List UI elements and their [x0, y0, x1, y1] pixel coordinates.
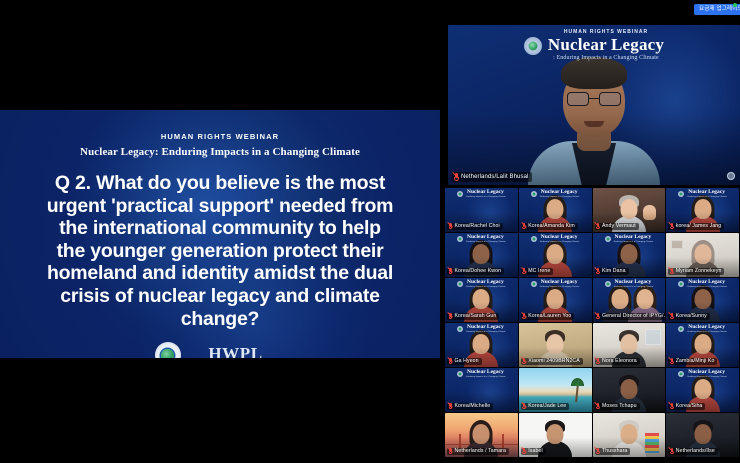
participant-name-label: Korea/Siha	[676, 403, 703, 409]
shared-screen-slide: HUMAN RIGHTS WEBINAR Nuclear Legacy: End…	[0, 110, 440, 358]
participant-name-tag: MC Irene	[521, 268, 554, 276]
participant-tile[interactable]: Nuclear Legacy : Enduring Impacts in a C…	[445, 233, 518, 277]
participant-name-tag: General Director of IPYG/...	[595, 313, 666, 321]
hwpl-emblem-icon	[531, 281, 537, 287]
participant-tile[interactable]: Nuclear Legacy : Enduring Impacts in a C…	[445, 278, 518, 322]
hwpl-emblem-icon	[457, 371, 463, 377]
glasses-icon	[567, 92, 621, 107]
participant-name-tag: Andy Vermaut	[595, 223, 639, 231]
participant-tile[interactable]: Nuclear Legacy : Enduring Impacts in a C…	[519, 188, 592, 232]
mic-muted-icon	[449, 403, 453, 410]
participant-tile[interactable]: Nora Eleonora	[593, 323, 666, 367]
participant-name-label: Ga Hyeon	[455, 358, 479, 364]
participant-name-tag: Zambia/Minji Ko	[668, 358, 717, 366]
hwpl-emblem-icon	[605, 236, 611, 242]
participant-name-label: Korea/Rachel Choi	[455, 223, 500, 229]
participant-tile[interactable]: Nuclear Legacy : Enduring Impacts in a C…	[445, 323, 518, 367]
participant-name-label: Netherlands / Tamara	[455, 448, 507, 454]
participant-name-label: Korea/Amanda Kim	[528, 223, 575, 229]
participant-name-label: Korea/Dohee Kwon	[455, 268, 502, 274]
participant-name-label: Myriam Zonnekeyn	[676, 268, 722, 274]
participant-tile[interactable]: Nuclear Legacy : Enduring Impacts in a C…	[666, 188, 739, 232]
mic-muted-icon	[596, 358, 600, 365]
active-speaker-tile[interactable]: HUMAN RIGHTS WEBINAR Nuclear Legacy : En…	[448, 25, 740, 185]
hwpl-emblem-icon	[531, 236, 537, 242]
mic-muted-icon	[454, 173, 459, 181]
participant-name-label: Nora Eleonora	[602, 358, 637, 364]
participant-tile[interactable]: Nuclear Legacy : Enduring Impacts in a C…	[593, 278, 666, 322]
video-conference-window: 요금제 업그레이드 HUMAN RIGHTS WEBINAR Nuclear L…	[0, 0, 740, 463]
participant-name-label: Korea/Sarah Gun	[455, 313, 497, 319]
mic-muted-icon	[449, 313, 453, 320]
mic-muted-icon	[670, 313, 674, 320]
participant-name-label: Isabel	[528, 448, 542, 454]
mic-muted-icon	[449, 268, 453, 275]
participant-name-tag: Isabel	[521, 448, 546, 456]
hwpl-logo-text: HWPL	[186, 345, 286, 358]
participant-tile[interactable]: Nuclear Legacy : Enduring Impacts in a C…	[593, 233, 666, 277]
hwpl-logo: HWPL HEAVENLY CULTURE, WORLD PEACE, REST…	[0, 342, 440, 358]
participant-name-tag: Ga Hyeon	[447, 358, 482, 366]
mic-muted-icon	[670, 268, 674, 275]
participant-tile[interactable]: Netherlands/Ilse	[666, 413, 739, 457]
participant-name-label: korea/ James Jang	[676, 223, 722, 229]
mic-muted-icon	[670, 358, 674, 365]
hwpl-emblem-icon	[457, 236, 463, 242]
hwpl-emblem-icon	[605, 281, 611, 287]
pin-badge-icon[interactable]	[727, 172, 735, 180]
mic-muted-icon	[596, 448, 600, 455]
participant-name-label: Korea/Sunny	[676, 313, 707, 319]
participant-tile[interactable]: Netherlands / Tamara	[445, 413, 518, 457]
hwpl-emblem-icon	[524, 37, 542, 55]
recording-status-dot	[733, 3, 737, 7]
participant-tile[interactable]: Nuclear Legacy : Enduring Impacts in a C…	[666, 323, 739, 367]
mic-muted-icon	[522, 448, 526, 455]
mic-muted-icon	[449, 358, 453, 365]
participant-tile[interactable]: Isabel	[519, 413, 592, 457]
hwpl-emblem-icon	[457, 326, 463, 332]
participant-tile[interactable]: Nuclear Legacy : Enduring Impacts in a C…	[666, 278, 739, 322]
participant-name-label: Kim Dana	[602, 268, 626, 274]
participant-name-tag: Thusshara	[595, 448, 631, 456]
mic-muted-icon	[596, 223, 600, 230]
participant-name-tag: korea/ James Jang	[668, 223, 724, 231]
participant-tile[interactable]: Nuclear Legacy : Enduring Impacts in a C…	[519, 278, 592, 322]
participant-name-tag: Moses Tchapu	[595, 403, 640, 411]
mic-muted-icon	[596, 313, 600, 320]
hwpl-emblem-icon	[531, 191, 537, 197]
participant-name-label: Netherlands/Ilse	[676, 448, 715, 454]
hwpl-emblem-icon	[678, 281, 684, 287]
participant-name-label: MC Irene	[528, 268, 550, 274]
slide-subtitle: Nuclear Legacy: Enduring Impacts in a Ch…	[0, 146, 440, 158]
participant-name-label: Xiaomi 2409BRN2CA	[528, 358, 580, 364]
participant-name-tag: Netherlands / Tamara	[447, 448, 509, 456]
hwpl-emblem-icon	[678, 326, 684, 332]
speaker-brand-subtitle: : Enduring Impacts in a Changing Climate	[548, 55, 664, 61]
mic-muted-icon	[522, 313, 526, 320]
participant-tile[interactable]: Nuclear Legacy : Enduring Impacts in a C…	[666, 368, 739, 412]
participant-name-tag: Korea/Lauren Yoo	[521, 313, 575, 321]
participant-name-label: Korea/Lauren Yoo	[528, 313, 571, 319]
mic-muted-icon	[522, 268, 526, 275]
participant-tile[interactable]: Xiaomi 2409BRN2CA	[519, 323, 592, 367]
waving-hand	[643, 205, 656, 220]
participant-name-label: Andy Vermaut	[602, 223, 636, 229]
mic-muted-icon	[670, 448, 674, 455]
mic-muted-icon	[449, 448, 453, 455]
speaker-video-image	[528, 73, 660, 185]
speaker-name-tag: Netherlands/Lalit Bhusal	[452, 172, 532, 182]
mic-muted-icon	[670, 223, 674, 230]
hwpl-emblem-icon	[678, 191, 684, 197]
participant-name-label: Zambia/Minji Ko	[676, 358, 715, 364]
mic-muted-icon	[670, 403, 674, 410]
mic-muted-icon	[449, 223, 453, 230]
participant-name-tag: Korea/Sarah Gun	[447, 313, 499, 321]
participant-name-tag: Netherlands/Ilse	[668, 448, 718, 456]
slide-question-text: Q 2. What do you believe is the most urg…	[45, 172, 395, 330]
mic-muted-icon	[596, 403, 600, 410]
hwpl-emblem-icon	[678, 371, 684, 377]
slide-kicker: HUMAN RIGHTS WEBINAR	[0, 132, 440, 141]
video-panel: HUMAN RIGHTS WEBINAR Nuclear Legacy : En…	[444, 20, 740, 463]
hwpl-emblem-icon	[457, 281, 463, 287]
participant-tile[interactable]: Myriam Zonnekeyn	[666, 233, 739, 277]
participant-tile[interactable]: Nuclear Legacy : Enduring Impacts in a C…	[445, 188, 518, 232]
participant-name-tag: Nora Eleonora	[595, 358, 640, 366]
participant-name-tag: Korea/Michelle	[447, 403, 493, 411]
participant-name-tag: Korea/Siha	[668, 403, 705, 411]
participant-name-tag: Kim Dana	[595, 268, 629, 276]
participant-name-label: Korea/Michelle	[455, 403, 491, 409]
participant-name-label: Moses Tchapu	[602, 403, 637, 409]
participant-tile[interactable]: Andy Vermaut	[593, 188, 666, 232]
participant-name-tag: Korea/Jade Lee	[521, 403, 570, 411]
speaker-brand-title: Nuclear Legacy	[548, 36, 664, 53]
mic-muted-icon	[522, 403, 526, 410]
participant-name-tag: Xiaomi 2409BRN2CA	[521, 358, 583, 366]
participant-name-label: General Director of IPYG/...	[602, 313, 665, 319]
participant-grid: Nuclear Legacy : Enduring Impacts in a C…	[444, 188, 740, 463]
participant-name-label: Thusshara	[602, 448, 627, 454]
participant-name-tag: Korea/Dohee Kwon	[447, 268, 504, 276]
participant-name-tag: Korea/Rachel Choi	[447, 223, 503, 231]
participant-tile[interactable]: Nuclear Legacy : Enduring Impacts in a C…	[445, 368, 518, 412]
participant-name-tag: Korea/Amanda Kim	[521, 223, 578, 231]
participant-tile[interactable]: Korea/Jade Lee	[519, 368, 592, 412]
participant-tile[interactable]: Moses Tchapu	[593, 368, 666, 412]
held-object	[645, 433, 659, 453]
participant-name-tag: Myriam Zonnekeyn	[668, 268, 724, 276]
participant-name-tag: Korea/Sunny	[668, 313, 710, 321]
top-bar: 요금제 업그레이드	[0, 0, 740, 20]
hwpl-emblem-icon	[457, 191, 463, 197]
participant-name-label: Korea/Jade Lee	[528, 403, 566, 409]
hwpl-emblem-icon	[155, 342, 181, 358]
mic-muted-icon	[596, 268, 600, 275]
speaker-name-label: Netherlands/Lalit Bhusal	[461, 174, 528, 180]
mic-muted-icon	[522, 223, 526, 230]
participant-tile[interactable]: Thusshara	[593, 413, 666, 457]
mic-muted-icon	[522, 358, 526, 365]
participant-tile[interactable]: Nuclear Legacy : Enduring Impacts in a C…	[519, 233, 592, 277]
speaker-virtual-background-brand: HUMAN RIGHTS WEBINAR Nuclear Legacy : En…	[448, 30, 740, 61]
